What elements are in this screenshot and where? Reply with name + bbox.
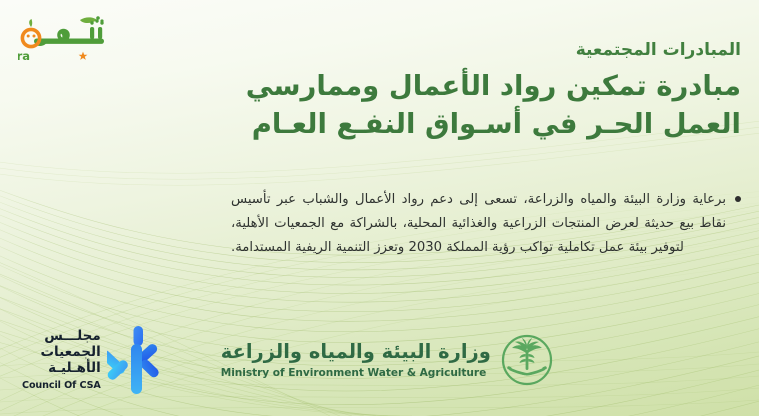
star-icon [79, 52, 88, 60]
bullet-icon [735, 196, 741, 202]
council-of-csa-logo: مجلـــس الجمعيات الأهـليـة Council Of CS… [22, 324, 169, 396]
mewa-arabic-text: وزارة البيئة والمياه والزراعة [221, 341, 491, 363]
csa-latin-text: Council Of CSA [22, 380, 101, 391]
csa-asterisk-icon [107, 324, 169, 396]
body-paragraph: برعاية وزارة البيئة والمياه والزراعة، تس… [231, 188, 726, 260]
saudi-palm-and-swords-emblem-icon [501, 334, 553, 386]
csa-wordmark: مجلـــس الجمعيات الأهـليـة Council Of CS… [22, 329, 101, 391]
thamara-logo: Thamara [18, 14, 114, 66]
mewa-wordmark: وزارة البيئة والمياه والزراعة Ministry o… [221, 341, 491, 378]
csa-arabic-line-2: الجمعيات [22, 345, 101, 361]
page-title: مبادرة تمكين رواد الأعمال وممارسي العمل … [167, 68, 741, 144]
thamara-arabic-wordmark [34, 19, 104, 46]
thamara-latin-wordmark: Thamara [18, 49, 30, 63]
csa-arabic-line-3: الأهـليـة [22, 361, 101, 377]
footer-logo-row: مجلـــس الجمعيات الأهـليـة Council Of CS… [22, 324, 553, 396]
mewa-latin-text: Ministry of Environment Water & Agricult… [221, 367, 491, 379]
mewa-logo: وزارة البيئة والمياه والزراعة Ministry o… [221, 334, 553, 386]
csa-arabic-line-1: مجلـــس [22, 329, 101, 345]
community-initiative-banner: Thamara المبادرات المجتمعية مبادرة تمكين… [0, 0, 759, 416]
orange-fruit-mark [22, 19, 39, 47]
headline-block: المبادرات المجتمعية مبادرة تمكين رواد ال… [167, 40, 741, 144]
eyebrow-text: المبادرات المجتمعية [167, 40, 741, 61]
body-block: برعاية وزارة البيئة والمياه والزراعة، تس… [231, 188, 741, 260]
